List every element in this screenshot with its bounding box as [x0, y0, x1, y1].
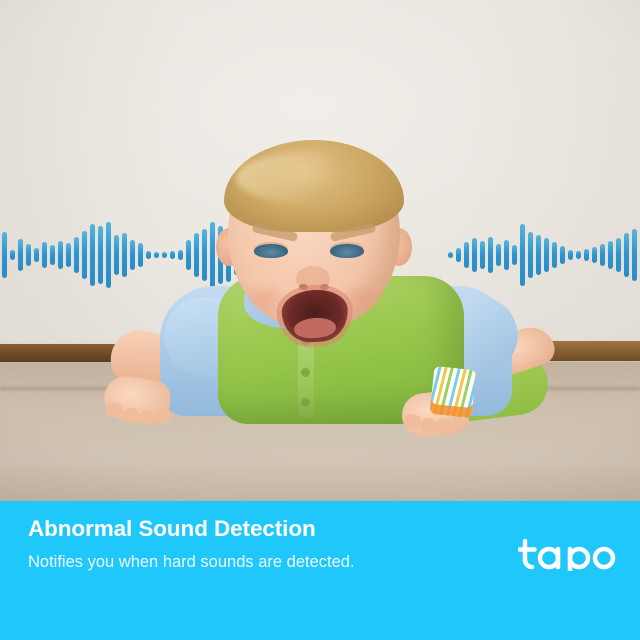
tapo-feature-card: Abnormal Sound Detection Notifies you wh… — [0, 0, 640, 640]
baby-hair-highlight — [236, 152, 386, 204]
baby-finger — [404, 414, 421, 429]
baby-wristband — [430, 366, 477, 418]
tapo-logo — [518, 538, 618, 586]
baby-finger — [420, 418, 437, 433]
feature-subtitle: Notifies you when hard sounds are detect… — [28, 549, 498, 575]
feature-title: Abnormal Sound Detection — [28, 515, 498, 543]
baby-eye-right — [330, 244, 364, 258]
scene-photo — [0, 0, 640, 501]
baby-finger — [436, 418, 453, 433]
baby-vest-button — [301, 368, 310, 377]
baby-figure — [0, 0, 640, 501]
baby-finger — [138, 410, 155, 425]
baby-finger — [154, 408, 171, 423]
banner-text-block: Abnormal Sound Detection Notifies you wh… — [28, 515, 498, 575]
baby-finger — [106, 402, 123, 417]
baby-nostril — [299, 284, 308, 290]
baby-eye-left — [254, 244, 288, 258]
baby-finger — [122, 408, 139, 423]
baby-vest-button — [301, 398, 310, 407]
